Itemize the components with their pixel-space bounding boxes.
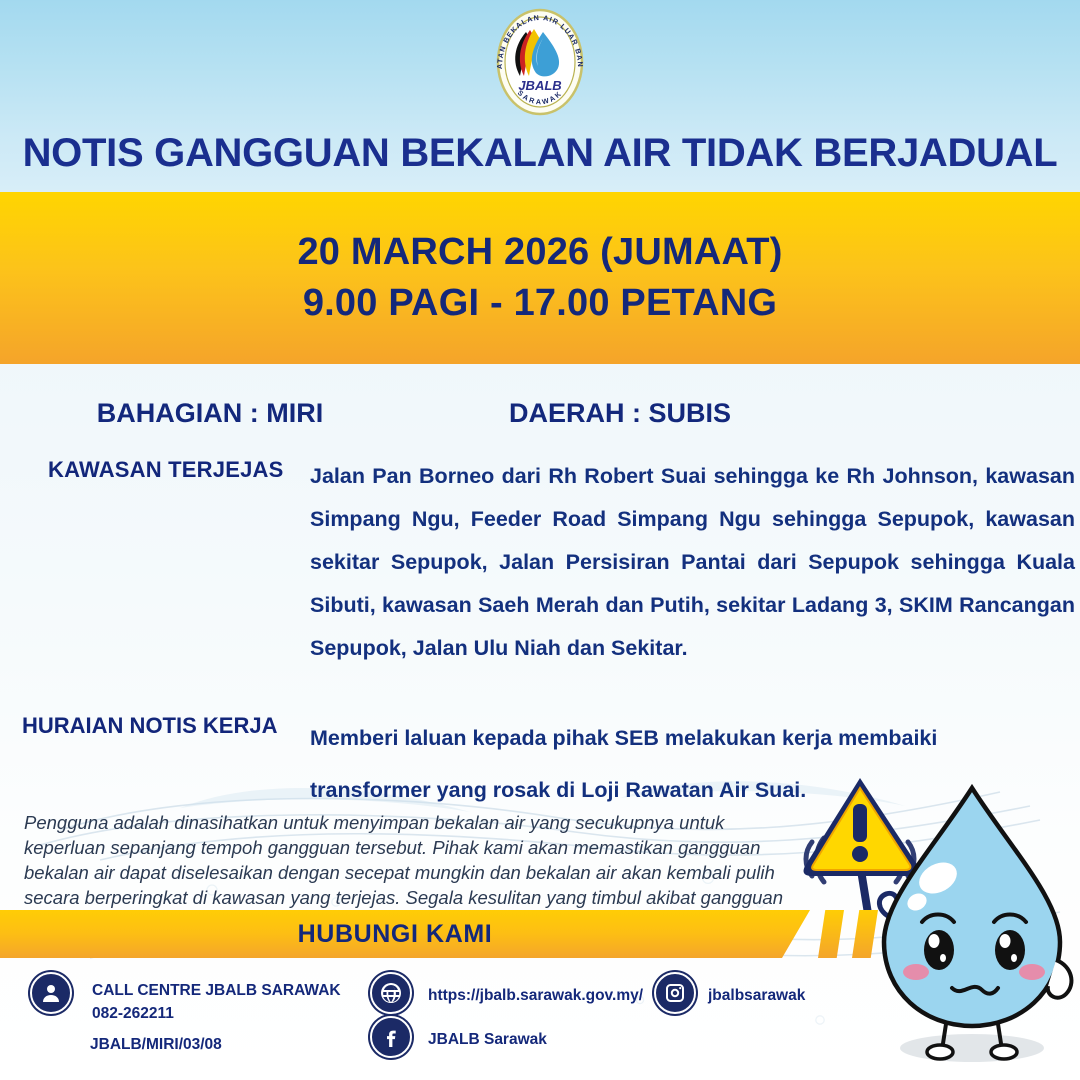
- facebook-icon[interactable]: [370, 1016, 412, 1058]
- instagram-icon[interactable]: [654, 972, 696, 1014]
- date-time-banner: 20 MARCH 2026 (JUMAAT) 9.00 PAGI - 17.00…: [0, 192, 1080, 364]
- svg-text:JBALB: JBALB: [518, 78, 561, 93]
- contact-banner-bar: HUBUNGI KAMI: [0, 910, 810, 958]
- facebook-text[interactable]: JBALB Sarawak: [428, 1028, 547, 1051]
- work-notice-label: HURAIAN NOTIS KERJA: [22, 713, 277, 739]
- district-label: DAERAH : SUBIS: [420, 398, 820, 429]
- instagram-text[interactable]: jbalbsarawak: [708, 984, 805, 1007]
- call-centre-text: CALL CENTRE JBALB SARAWAK 082-262211: [92, 979, 341, 1025]
- globe-icon[interactable]: [370, 972, 412, 1014]
- outage-time: 9.00 PAGI - 17.00 PETANG: [303, 282, 777, 325]
- page-title: NOTIS GANGGUAN BEKALAN AIR TIDAK BERJADU…: [0, 131, 1080, 176]
- region-row: BAHAGIAN : MIRI DAERAH : SUBIS: [0, 398, 1080, 429]
- poster-root: JABATAN BEKALAN AIR LUAR BANDAR SARAWAK …: [0, 0, 1080, 1080]
- poster-header: JABATAN BEKALAN AIR LUAR BANDAR SARAWAK …: [0, 0, 1080, 192]
- call-centre-line1: CALL CENTRE JBALB SARAWAK: [92, 979, 341, 1002]
- jbalb-logo: JABATAN BEKALAN AIR LUAR BANDAR SARAWAK …: [488, 6, 592, 118]
- banner-stripe-2: [852, 910, 878, 958]
- outage-date: 20 MARCH 2026 (JUMAAT): [297, 231, 782, 274]
- banner-stripe-1: [818, 910, 844, 958]
- reference-code: JBALB/MIRI/03/08: [90, 1036, 222, 1054]
- contact-banner: HUBUNGI KAMI: [0, 910, 1080, 958]
- affected-area-text: Jalan Pan Borneo dari Rh Robert Suai seh…: [310, 455, 1075, 670]
- contact-banner-title: HUBUNGI KAMI: [298, 920, 493, 949]
- website-text[interactable]: https://jbalb.sarawak.gov.my/: [428, 984, 643, 1007]
- affected-area-label: KAWASAN TERJEJAS: [48, 457, 283, 483]
- person-icon[interactable]: [30, 972, 72, 1014]
- division-label: BAHAGIAN : MIRI: [0, 398, 420, 429]
- call-centre-line2: 082-262211: [92, 1002, 341, 1025]
